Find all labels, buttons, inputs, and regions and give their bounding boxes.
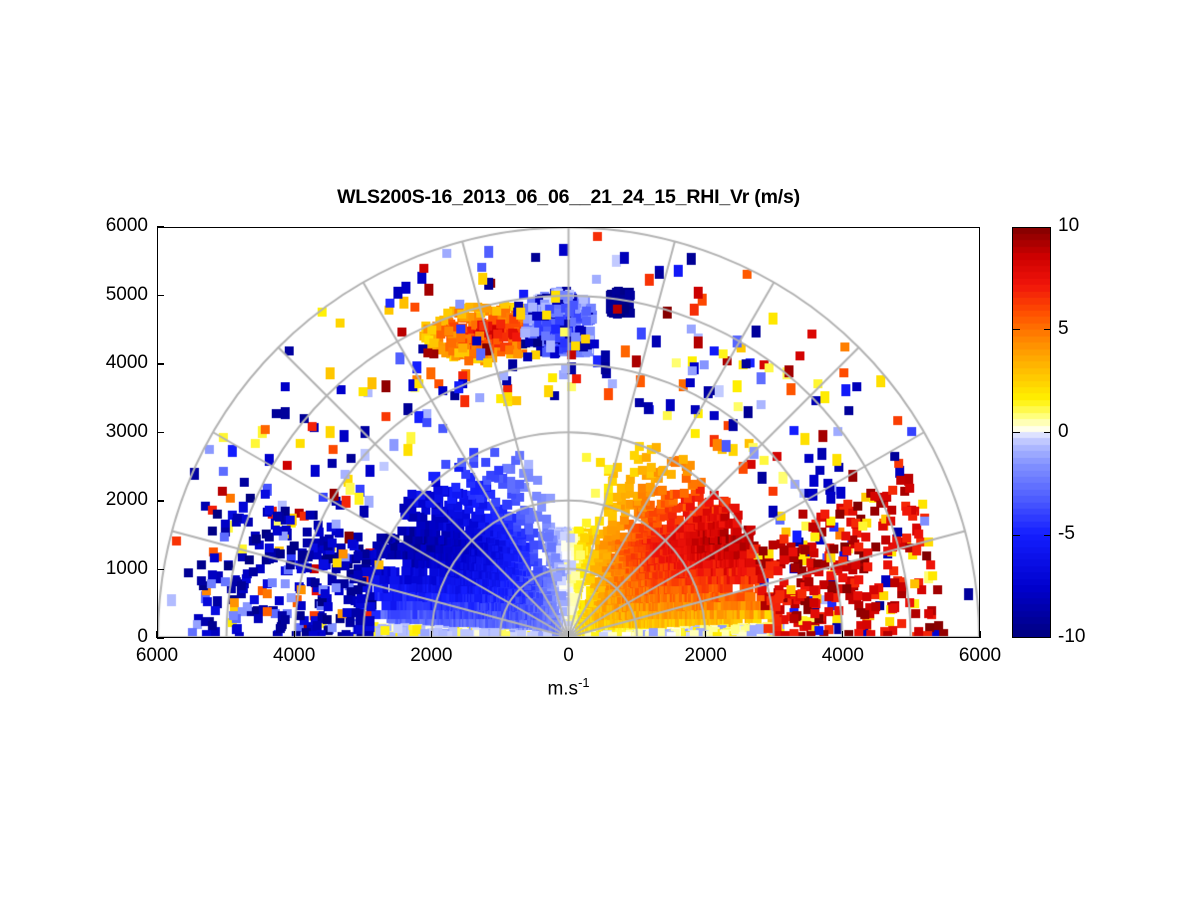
- y-tick-mark: [157, 637, 164, 638]
- x-tick-label: 6000: [136, 645, 178, 667]
- x-tick-label: 0: [563, 645, 574, 667]
- colorbar-tick-mark: [1044, 535, 1051, 536]
- colorbar-tick-mark: [1044, 432, 1051, 433]
- figure-canvas: WLS200S-16_2013_06_06__21_24_15_RHI_Vr (…: [0, 0, 1201, 901]
- page-title: WLS200S-16_2013_06_06__21_24_15_RHI_Vr (…: [157, 186, 980, 209]
- y-tick-mark: [157, 226, 164, 227]
- colorbar-tick-mark: [1013, 432, 1020, 433]
- y-tick-label: 5000: [106, 284, 148, 306]
- x-tick-label: 2000: [410, 645, 452, 667]
- x-tick-mark: [568, 631, 569, 638]
- x-tick-mark: [842, 631, 843, 638]
- colorbar-tick-mark: [1013, 329, 1020, 330]
- polar-rhi-plot-area: [157, 227, 980, 638]
- x-tick-mark: [156, 631, 157, 638]
- y-tick-mark: [157, 500, 164, 501]
- x-tick-mark: [979, 631, 980, 638]
- y-tick-label: 1000: [106, 558, 148, 580]
- x-tick-mark: [294, 631, 295, 638]
- x-axis-label: m.s-1: [157, 675, 980, 700]
- x-axis-label-text: m.s: [547, 678, 578, 699]
- colorbar-tick-label: 5: [1058, 318, 1069, 340]
- x-tick-label: 4000: [273, 645, 315, 667]
- x-tick-label: 6000: [959, 645, 1001, 667]
- y-tick-mark: [157, 363, 164, 364]
- y-tick-label: 3000: [106, 421, 148, 443]
- colorbar-tick-label: -5: [1058, 523, 1075, 545]
- y-tick-mark: [157, 569, 164, 570]
- colorbar-tick-label: 0: [1058, 421, 1069, 443]
- y-tick-mark: [157, 295, 164, 296]
- x-tick-label: 2000: [685, 645, 727, 667]
- y-tick-label: 2000: [106, 489, 148, 511]
- colorbar-tick-label: -10: [1058, 626, 1085, 648]
- x-tick-mark: [431, 631, 432, 638]
- colorbar-tick-mark: [1013, 535, 1020, 536]
- y-tick-label: 6000: [106, 215, 148, 237]
- x-tick-label: 4000: [822, 645, 864, 667]
- y-tick-mark: [157, 432, 164, 433]
- x-axis-label-exponent: -1: [578, 675, 589, 690]
- colorbar-tick-mark: [1044, 329, 1051, 330]
- y-tick-label: 4000: [106, 352, 148, 374]
- x-tick-mark: [705, 631, 706, 638]
- rhi-data-canvas: [158, 228, 979, 637]
- colorbar-tick-label: 10: [1058, 215, 1079, 237]
